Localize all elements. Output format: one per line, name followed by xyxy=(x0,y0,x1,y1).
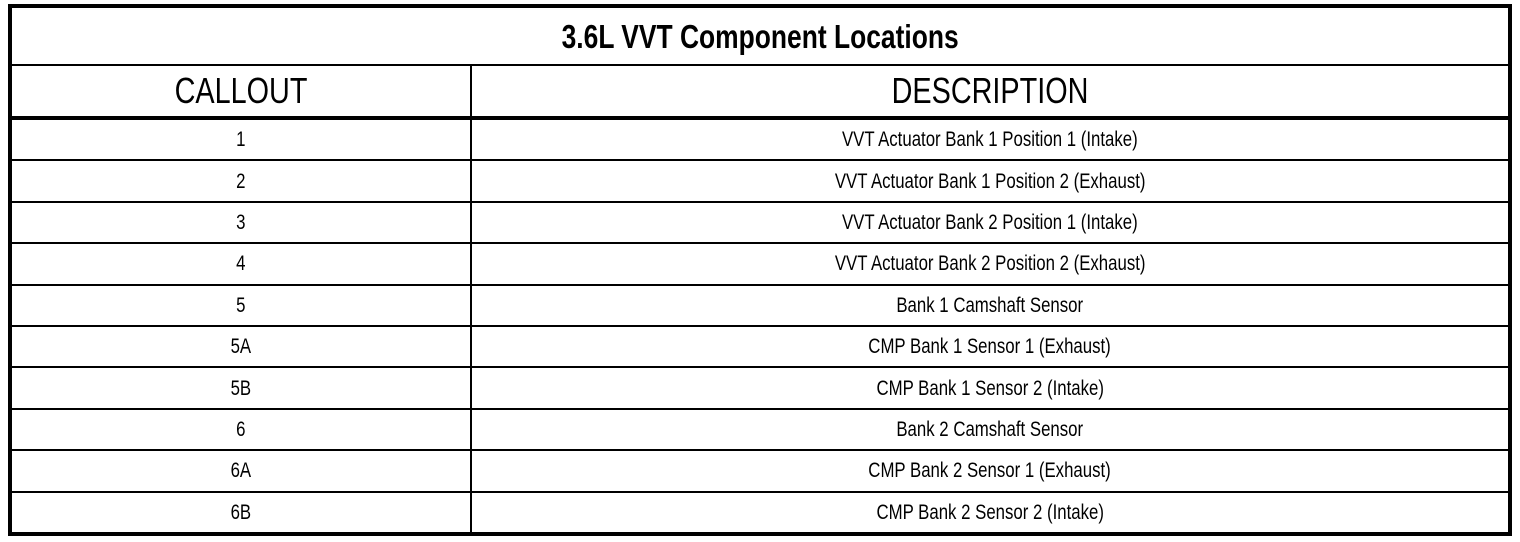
cell-description-text: VVT Actuator Bank 1 Position 2 (Exhaust) xyxy=(835,171,1146,192)
cell-callout: 5 xyxy=(12,286,472,325)
cell-callout-text: 1 xyxy=(236,129,245,150)
column-header-callout-label: CALLOUT xyxy=(175,73,308,109)
page-root: 3.6L VVT Component Locations CALLOUT DES… xyxy=(0,0,1520,542)
cell-description-text: Bank 2 Camshaft Sensor xyxy=(897,419,1084,440)
cell-callout-text: 2 xyxy=(236,171,245,192)
cell-callout: 1 xyxy=(12,120,472,159)
cell-callout-text: 5A xyxy=(231,336,252,357)
cell-description-text: CMP Bank 1 Sensor 2 (Intake) xyxy=(876,378,1104,399)
cell-callout: 4 xyxy=(12,244,472,283)
cell-description: VVT Actuator Bank 2 Position 2 (Exhaust) xyxy=(472,244,1508,283)
cell-callout-text: 3 xyxy=(236,212,245,233)
cell-description: Bank 2 Camshaft Sensor xyxy=(472,410,1508,449)
cell-callout-text: 6A xyxy=(231,460,252,481)
cell-description: VVT Actuator Bank 1 Position 2 (Exhaust) xyxy=(472,161,1508,200)
cell-description-text: VVT Actuator Bank 1 Position 1 (Intake) xyxy=(842,129,1138,150)
cell-callout-text: 5B xyxy=(231,378,252,399)
cell-description: CMP Bank 1 Sensor 2 (Intake) xyxy=(472,368,1508,407)
cell-description-text: CMP Bank 2 Sensor 2 (Intake) xyxy=(876,502,1104,523)
cell-description: VVT Actuator Bank 2 Position 1 (Intake) xyxy=(472,203,1508,242)
column-header-callout: CALLOUT xyxy=(12,66,472,116)
cell-description-text: CMP Bank 1 Sensor 1 (Exhaust) xyxy=(869,336,1111,357)
cell-description: VVT Actuator Bank 1 Position 1 (Intake) xyxy=(472,120,1508,159)
cell-callout-text: 5 xyxy=(236,295,245,316)
cell-description: CMP Bank 2 Sensor 2 (Intake) xyxy=(472,493,1508,532)
table-title-row: 3.6L VVT Component Locations xyxy=(12,8,1508,66)
cell-description-text: CMP Bank 2 Sensor 1 (Exhaust) xyxy=(869,460,1111,481)
table-row: 1VVT Actuator Bank 1 Position 1 (Intake) xyxy=(12,120,1508,161)
table-row: 4VVT Actuator Bank 2 Position 2 (Exhaust… xyxy=(12,244,1508,285)
cell-callout-text: 6B xyxy=(231,502,252,523)
cell-description: CMP Bank 2 Sensor 1 (Exhaust) xyxy=(472,451,1508,490)
cell-callout-text: 6 xyxy=(236,419,245,440)
column-header-description: DESCRIPTION xyxy=(472,66,1508,116)
table-row: 5Bank 1 Camshaft Sensor xyxy=(12,286,1508,327)
table-row: 3VVT Actuator Bank 2 Position 1 (Intake) xyxy=(12,203,1508,244)
cell-callout-text: 4 xyxy=(236,253,245,274)
cell-callout: 5A xyxy=(12,327,472,366)
table-header-row: CALLOUT DESCRIPTION xyxy=(12,66,1508,120)
cell-description-text: Bank 1 Camshaft Sensor xyxy=(897,295,1084,316)
cell-callout: 6 xyxy=(12,410,472,449)
cell-description: CMP Bank 1 Sensor 1 (Exhaust) xyxy=(472,327,1508,366)
table-row: 2VVT Actuator Bank 1 Position 2 (Exhaust… xyxy=(12,161,1508,202)
table-row: 6Bank 2 Camshaft Sensor xyxy=(12,410,1508,451)
table-row: 5BCMP Bank 1 Sensor 2 (Intake) xyxy=(12,368,1508,409)
cell-callout: 6B xyxy=(12,493,472,532)
table-row: 6BCMP Bank 2 Sensor 2 (Intake) xyxy=(12,493,1508,532)
table-title: 3.6L VVT Component Locations xyxy=(561,20,958,53)
table-body: 1VVT Actuator Bank 1 Position 1 (Intake)… xyxy=(12,120,1508,532)
column-header-description-label: DESCRIPTION xyxy=(892,73,1089,109)
cell-description-text: VVT Actuator Bank 2 Position 2 (Exhaust) xyxy=(835,253,1146,274)
cell-description: Bank 1 Camshaft Sensor xyxy=(472,286,1508,325)
cell-callout: 3 xyxy=(12,203,472,242)
table-row: 6ACMP Bank 2 Sensor 1 (Exhaust) xyxy=(12,451,1508,492)
component-locations-table: 3.6L VVT Component Locations CALLOUT DES… xyxy=(8,4,1512,536)
cell-callout: 5B xyxy=(12,368,472,407)
table-row: 5ACMP Bank 1 Sensor 1 (Exhaust) xyxy=(12,327,1508,368)
cell-callout: 2 xyxy=(12,161,472,200)
cell-callout: 6A xyxy=(12,451,472,490)
cell-description-text: VVT Actuator Bank 2 Position 1 (Intake) xyxy=(842,212,1138,233)
